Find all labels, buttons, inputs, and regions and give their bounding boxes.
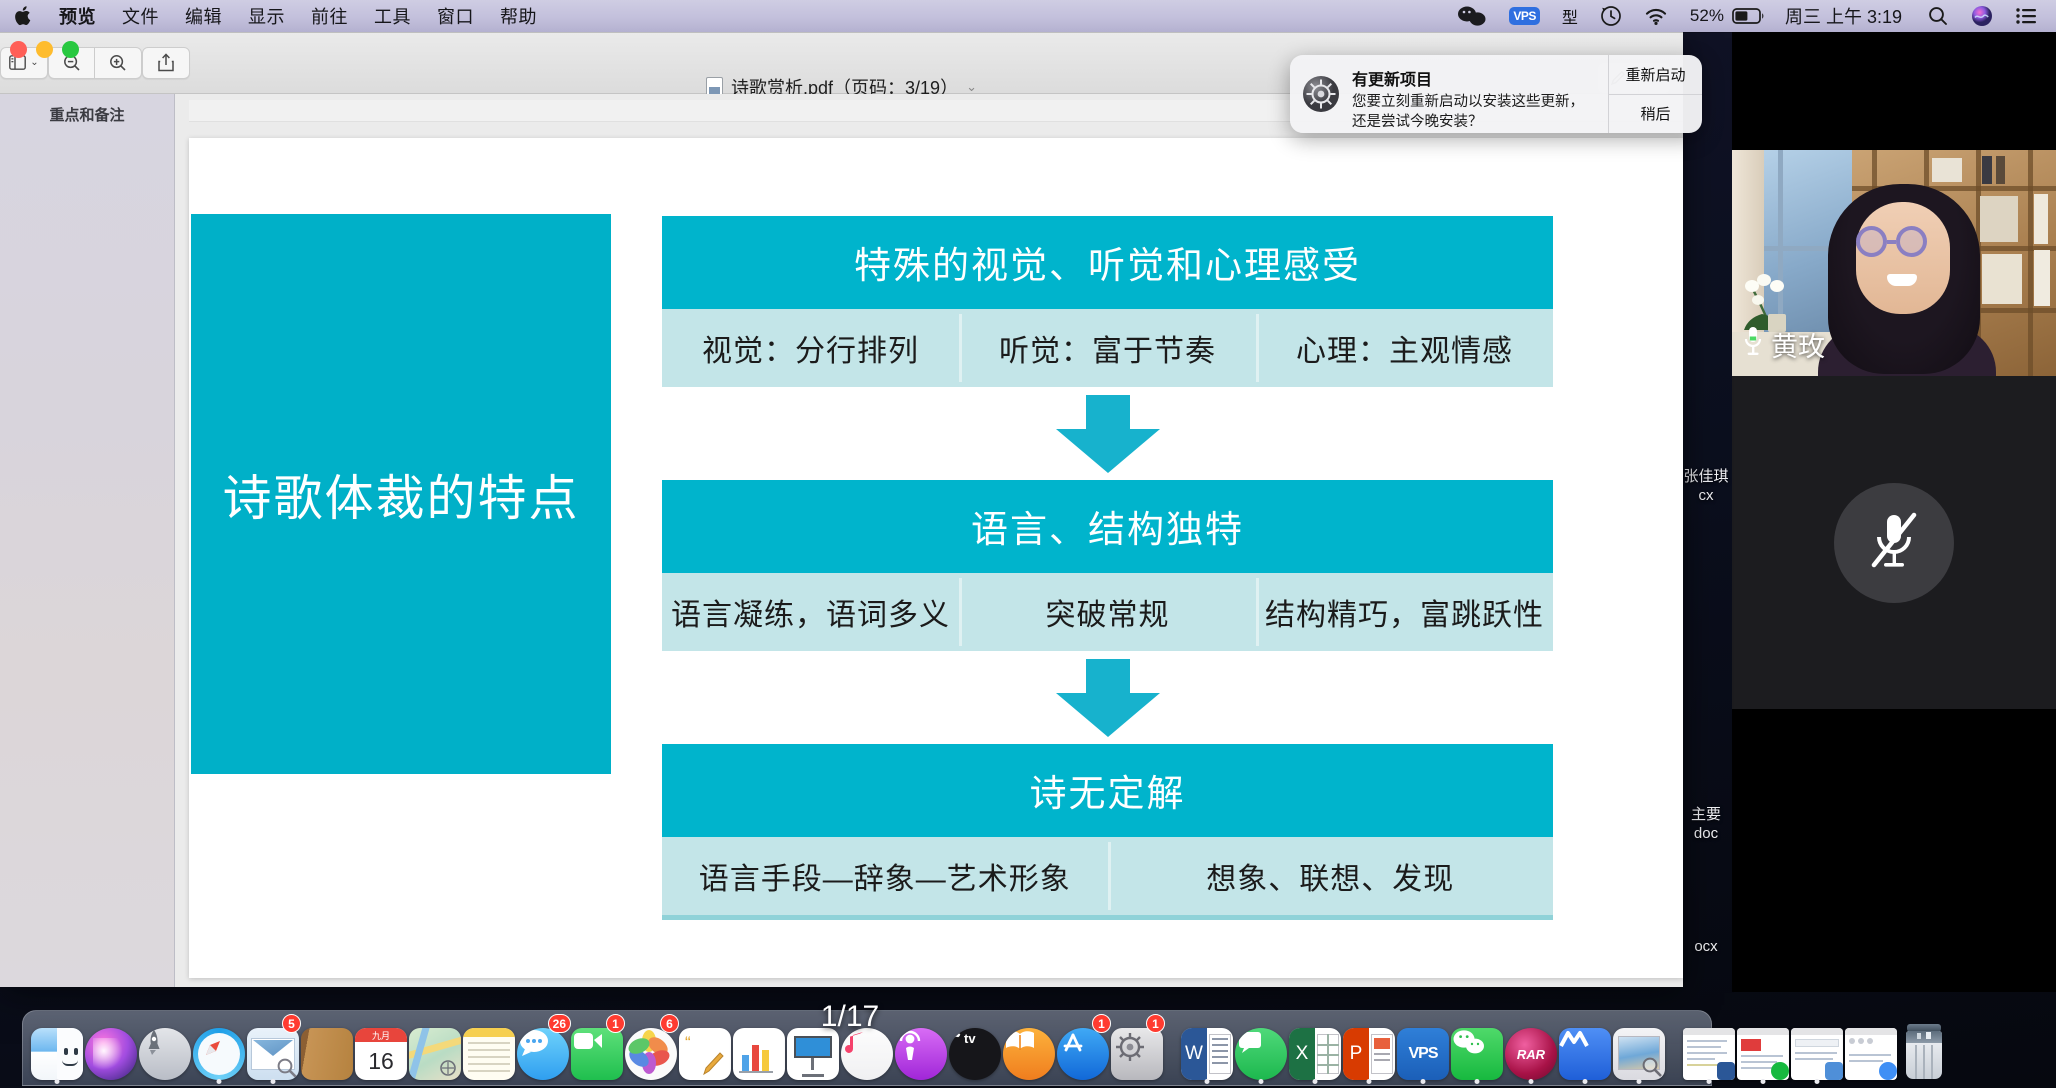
slide-left-title: 诗歌体裁的特点 (191, 214, 611, 774)
dock-item-trash[interactable] (1899, 1018, 1949, 1080)
vpn-status-icon[interactable]: VPS (1498, 0, 1551, 32)
rar-icon: RAR (1505, 1028, 1557, 1080)
wps-icon (1235, 1028, 1287, 1080)
dock-item-minimized-settings[interactable] (1845, 1018, 1897, 1080)
page-indicator: 1/17 (790, 1000, 910, 1034)
dock-item-pages[interactable]: “ (679, 1018, 731, 1080)
minimized-document-window (1683, 1028, 1735, 1080)
dock-item-powerpoint[interactable]: P (1343, 1018, 1395, 1080)
flow-cell: 语言凝练，语词多义 (662, 590, 959, 634)
eyeglasses-icon (1896, 226, 1927, 257)
dock-item-photos[interactable]: 6 (625, 1018, 677, 1080)
input-method-label: 型 (1562, 4, 1578, 28)
flow-block-head: 诗无定解 (662, 744, 1553, 837)
flow-block-subrow: 视觉：分行排列 听觉：富于节奏 心理：主观情感 (662, 309, 1553, 387)
mendeley-icon (1559, 1028, 1611, 1080)
apple-menu-icon[interactable] (0, 5, 46, 27)
excel-icon: X (1289, 1028, 1341, 1080)
slide-flow-stack: 特殊的视觉、听觉和心理感受 视觉：分行排列 听觉：富于节奏 心理：主观情感 (662, 216, 1553, 920)
notification-banner[interactable]: 有更新项目 您要立刻重新启动以安装这些更新，还是尝试今晚安装？ 重新启动 稍后 (1290, 55, 1702, 133)
vpn-letter: VPS (1397, 1028, 1449, 1080)
flow-block: 语言、结构独特 语言凝练，语词多义 突破常规 结构精巧，富跳跃性 (662, 480, 1553, 651)
menu-item-file[interactable]: 文件 (109, 3, 172, 29)
podcasts-icon (895, 1028, 947, 1080)
battery-icon[interactable] (1732, 0, 1777, 32)
badge-count: 1 (1092, 1014, 1111, 1033)
microphone-icon (1742, 326, 1764, 363)
wifi-icon[interactable] (1633, 0, 1679, 32)
flow-block-subrow: 语言手段—辞象—艺术形象 想象、联想、发现 (662, 837, 1553, 920)
dock-item-minimized-preview[interactable] (1791, 1018, 1843, 1080)
calendar-icon: 九月 16 (355, 1028, 407, 1080)
slide-diagram: 诗歌体裁的特点 特殊的视觉、听觉和心理感受 视觉：分行排列 听觉：富于节奏 (189, 138, 1683, 978)
orchid-plant (1742, 262, 1806, 332)
launchpad-icon (139, 1028, 191, 1080)
dock-item-mendeley[interactable] (1559, 1018, 1611, 1080)
menu-item-window[interactable]: 窗口 (424, 3, 487, 29)
badge-count: 5 (282, 1014, 301, 1033)
minimized-preview-window (1791, 1028, 1843, 1080)
pdf-page: 诗歌体裁的特点 特殊的视觉、听觉和心理感受 视觉：分行排列 听觉：富于节奏 (189, 138, 1683, 978)
powerpoint-letter: P (1343, 1028, 1369, 1080)
flow-block: 诗无定解 语言手段—辞象—艺术形象 想象、联想、发现 (662, 744, 1553, 920)
svg-text:tv: tv (964, 1031, 976, 1046)
flow-block: 特殊的视觉、听觉和心理感受 视觉：分行排列 听觉：富于节奏 心理：主观情感 (662, 216, 1553, 387)
vpn-badge-label: VPS (1509, 7, 1540, 25)
pages-icon: “ (679, 1028, 731, 1080)
dock-item-launchpad[interactable] (139, 1018, 191, 1080)
calendar-month: 九月 (355, 1028, 407, 1042)
menu-item-tools[interactable]: 工具 (361, 3, 424, 29)
maximize-button[interactable] (62, 41, 79, 58)
menu-bar: 预览 文件 编辑 显示 前往 工具 窗口 帮助 VPS 型 (0, 0, 2056, 32)
minimize-button[interactable] (36, 41, 53, 58)
dock-item-books[interactable] (1003, 1018, 1055, 1080)
dock-item-excel[interactable]: X (1289, 1018, 1341, 1080)
eyeglasses-icon (1856, 226, 1887, 257)
dock-item-siri[interactable] (85, 1018, 137, 1080)
search-icon[interactable] (1916, 0, 1960, 32)
down-arrow-icon (662, 651, 1553, 744)
calendar-day: 16 (355, 1042, 407, 1080)
minimized-settings-window (1845, 1028, 1897, 1080)
control-center-icon[interactable] (2004, 0, 2050, 32)
chevron-down-icon: ⌄ (30, 57, 38, 68)
dock-item-minimized-document[interactable] (1683, 1018, 1735, 1080)
zoom-in-button[interactable] (95, 47, 142, 79)
menu-item-help[interactable]: 帮助 (487, 3, 550, 29)
numbers-icon (733, 1028, 785, 1080)
desktop-screen: 张佳琪 cx 主要 doc ocx 预览 文件 编辑 显示 前往 工具 窗口 帮… (0, 0, 2056, 1088)
chevron-down-icon[interactable]: ⌄ (966, 79, 977, 95)
dock-item-word[interactable]: W (1181, 1018, 1233, 1080)
dock-item-wps[interactable] (1235, 1018, 1287, 1080)
mail-icon (247, 1028, 299, 1080)
menu-item-edit[interactable]: 编辑 (172, 3, 235, 29)
software-update-icon (1290, 55, 1352, 133)
siri-icon[interactable] (1960, 0, 2004, 32)
flow-block-head: 语言、结构独特 (662, 480, 1553, 573)
preview-sidebar[interactable]: 重点和备注 (0, 94, 175, 987)
dock-item-messages[interactable]: 26 (517, 1018, 569, 1080)
powerpoint-icon: P (1343, 1028, 1395, 1080)
flow-cell: 听觉：富于节奏 (959, 326, 1256, 370)
dock-item-calendar[interactable]: 九月 16 (355, 1018, 407, 1080)
books-icon (1003, 1028, 1055, 1080)
vpn-icon: VPS (1397, 1028, 1449, 1080)
eyeglasses-bridge (1887, 240, 1896, 244)
restart-button[interactable]: 重新启动 (1609, 55, 1702, 95)
later-button[interactable]: 稍后 (1609, 95, 1702, 134)
participant-name-text: 黄玫 (1771, 325, 1825, 364)
muted-avatar (1834, 483, 1954, 603)
dock-item-mail[interactable]: 5 (247, 1018, 299, 1080)
notification-title: 有更新项目 (1352, 66, 1598, 90)
dock-item-contacts[interactable] (301, 1018, 353, 1080)
menu-bar-clock[interactable]: 周三 上午 3:19 (1777, 3, 1916, 29)
pdf-scroll-container: 诗歌体裁的特点 特殊的视觉、听觉和心理感受 视觉：分行排列 听觉：富于节奏 (189, 100, 1683, 981)
dock-item-minimized-wechat[interactable] (1737, 1018, 1789, 1080)
slide-left-title-text: 诗歌体裁的特点 (222, 459, 579, 530)
word-letter: W (1181, 1028, 1207, 1080)
preview-content-area[interactable]: 诗歌体裁的特点 特殊的视觉、听觉和心理感受 视觉：分行排列 听觉：富于节奏 (175, 94, 1683, 987)
minimized-wechat-window (1737, 1028, 1789, 1080)
dock-item-vpn[interactable]: VPS (1397, 1018, 1449, 1080)
facetime-icon (571, 1028, 623, 1080)
participant-mouth (1887, 274, 1917, 286)
dock-item-appletv[interactable]: tv (949, 1018, 1001, 1080)
flow-block-head: 特殊的视觉、听觉和心理感受 (662, 216, 1553, 309)
notification-body: 您要立刻重新启动以安装这些更新，还是尝试今晚安装？ (1352, 93, 1598, 132)
preview-icon (1613, 1028, 1665, 1080)
window-controls (10, 41, 79, 58)
photos-icon (625, 1028, 677, 1080)
dock-item-system-preferences[interactable]: 1 (1111, 1018, 1163, 1080)
sidebar-title: 重点和备注 (0, 104, 174, 125)
siri-icon (85, 1028, 137, 1080)
dock-item-safari[interactable] (193, 1018, 245, 1080)
dock-item-maps[interactable] (409, 1018, 461, 1080)
notification-actions: 重新启动 稍后 (1608, 55, 1702, 133)
dock-item-preview[interactable] (1613, 1018, 1665, 1080)
flow-cell: 结构精巧，富跳跃性 (1256, 590, 1553, 634)
share-button[interactable] (142, 47, 190, 79)
video-tile-participant[interactable]: 黄玫 (1732, 150, 2056, 376)
keynote-icon (787, 1028, 839, 1080)
appletv-icon: tv (949, 1028, 1001, 1080)
menu-item-go[interactable]: 前往 (298, 3, 361, 29)
music-icon (841, 1028, 893, 1080)
finder-icon (31, 1028, 83, 1080)
wechat-icon[interactable] (1446, 0, 1498, 32)
preview-window: ⌄ 诗歌赏析.pdf（页码：3/19） ⌄ ⌄ (0, 32, 1683, 987)
badge-count: 6 (660, 1014, 679, 1033)
flow-cell: 想象、联想、发现 (1108, 854, 1554, 898)
dock-item-wechat[interactable] (1451, 1018, 1503, 1080)
down-arrow-icon (662, 387, 1553, 480)
participant-name-label: 黄玫 (1742, 325, 1825, 364)
close-button[interactable] (10, 41, 27, 58)
word-icon: W (1181, 1028, 1233, 1080)
notes-icon (463, 1028, 515, 1080)
appstore-icon (1057, 1028, 1109, 1080)
messages-icon (517, 1028, 569, 1080)
video-tile-muted[interactable] (1732, 376, 2056, 709)
badge-count: 26 (548, 1014, 571, 1033)
safari-icon (193, 1028, 245, 1080)
input-method-icon[interactable]: 型 (1551, 0, 1589, 32)
wechat-icon (1451, 1028, 1503, 1080)
flow-cell: 视觉：分行排列 (662, 326, 959, 370)
notification-text-group: 有更新项目 您要立刻重新启动以安装这些更新，还是尝试今晚安装？ (1352, 55, 1608, 133)
microphone-muted-icon (1865, 507, 1923, 578)
flow-cell: 突破常规 (959, 590, 1256, 634)
contacts-icon (301, 1028, 353, 1080)
maps-icon (409, 1028, 461, 1080)
dock-item-appstore[interactable]: 1 (1057, 1018, 1109, 1080)
battery-percent: 52% (1679, 0, 1732, 32)
menu-item-preview[interactable]: 预览 (46, 3, 109, 29)
badge-count: 1 (606, 1014, 625, 1033)
flow-block-subrow: 语言凝练，语词多义 突破常规 结构精巧，富跳跃性 (662, 573, 1553, 651)
dock-item-rar[interactable]: RAR (1505, 1018, 1557, 1080)
menu-item-view[interactable]: 显示 (235, 3, 298, 29)
trash-icon (1899, 1024, 1949, 1080)
time-machine-icon[interactable] (1589, 0, 1633, 32)
flow-cell: 语言手段—辞象—艺术形象 (662, 854, 1108, 898)
excel-letter: X (1289, 1028, 1315, 1080)
dock-item-notes[interactable] (463, 1018, 515, 1080)
dock-item-finder[interactable] (31, 1018, 83, 1080)
flow-cell: 心理：主观情感 (1256, 326, 1553, 370)
badge-count: 1 (1146, 1014, 1165, 1033)
menu-bar-tray: VPS 型 52% 周三 上午 3:19 (1446, 0, 2056, 32)
participant-face (1856, 202, 1950, 314)
system-preferences-icon (1111, 1028, 1163, 1080)
dock-item-facetime[interactable]: 1 (571, 1018, 623, 1080)
preview-body: 重点和备注 诗歌体裁的特点 (0, 94, 1683, 987)
dock-item-numbers[interactable] (733, 1018, 785, 1080)
